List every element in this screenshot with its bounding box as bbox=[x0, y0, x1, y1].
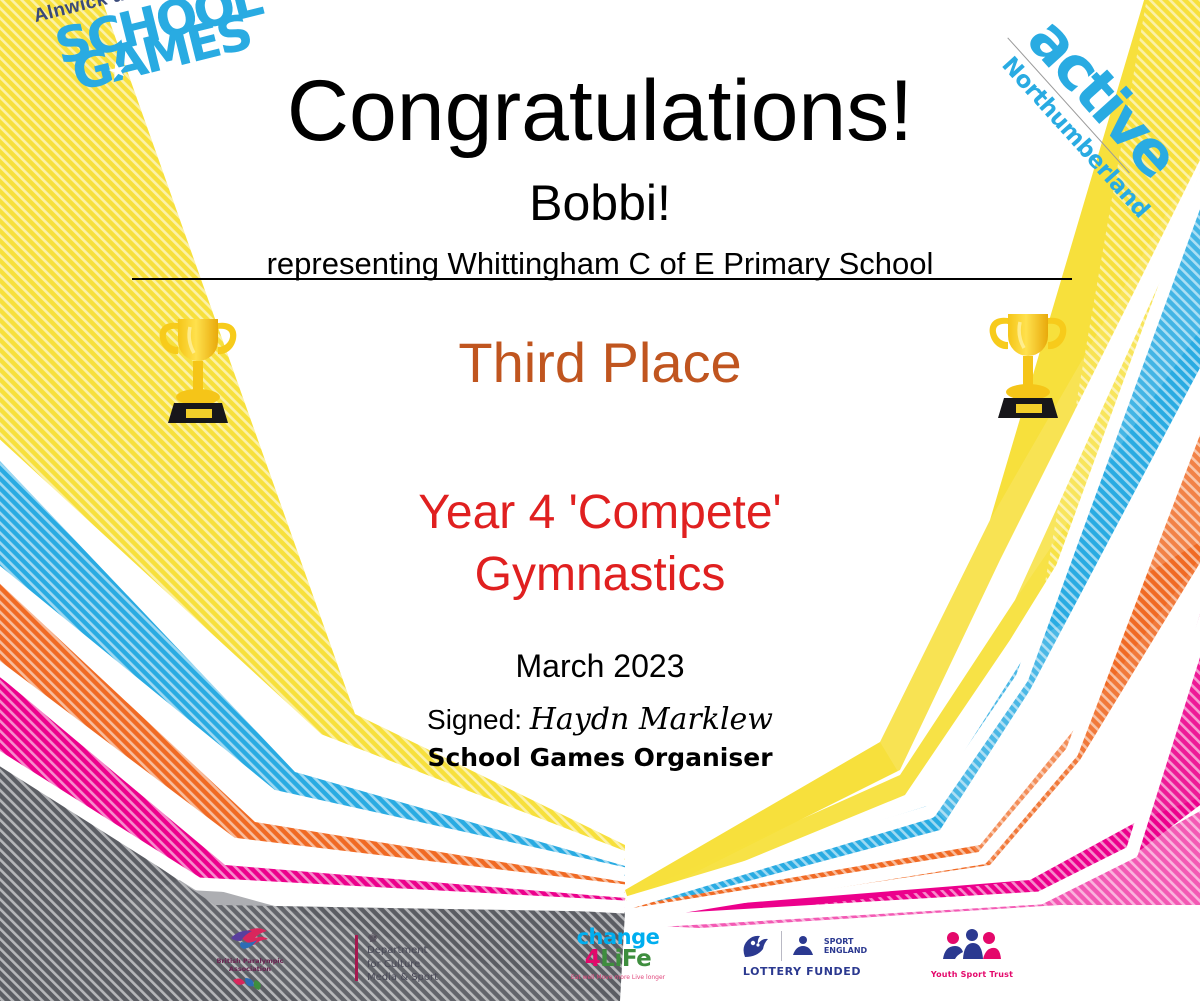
paralympic-flame-icon bbox=[221, 927, 279, 953]
award-date: March 2023 bbox=[0, 650, 1200, 682]
divider-rule bbox=[132, 278, 1072, 280]
footer-logo-strip: British Paralympic Association ♚ Departm… bbox=[0, 923, 1200, 995]
sport-england-mark-icon bbox=[790, 933, 816, 959]
sport-england-text: SPORT ENGLAND bbox=[824, 937, 867, 955]
headline: Congratulations! bbox=[0, 68, 1200, 154]
change4life-word-change: change bbox=[548, 927, 688, 948]
youth-sport-trust-caption: Youth Sport Trust bbox=[912, 970, 1032, 979]
certificate-page: Alnwick and Berwick SCHOOL GAMES ★ activ… bbox=[0, 0, 1200, 1001]
dcms-accent-bar bbox=[355, 935, 358, 981]
dcms-line-1: Department bbox=[367, 944, 505, 958]
dcms-text-block: Department for Culture Media & Sport bbox=[367, 944, 505, 985]
event-title: Year 4 'Compete' Gymnastics bbox=[0, 482, 1200, 607]
lottery-fingers-crossed-icon bbox=[737, 931, 773, 961]
signature-line: Signed: Haydn Marklew bbox=[0, 705, 1200, 735]
logo-change4life: change 4LiFe Eat well Move more Live lon… bbox=[548, 927, 688, 981]
signatory-role: School Games Organiser bbox=[0, 745, 1200, 770]
event-line-2: Gymnastics bbox=[0, 544, 1200, 606]
event-line-1: Year 4 'Compete' bbox=[0, 482, 1200, 544]
logo-youth-sport-trust: Youth Sport Trust bbox=[912, 929, 1032, 979]
sport-england-line-2: ENGLAND bbox=[824, 946, 867, 955]
logo-divider bbox=[781, 931, 782, 961]
logo-sport-england-lottery: SPORT ENGLAND LOTTERY FUNDED bbox=[722, 931, 882, 978]
sport-england-row: SPORT ENGLAND bbox=[722, 931, 882, 961]
recipient-name: Bobbi! bbox=[0, 178, 1200, 228]
dcms-line-3: Media & Sport bbox=[367, 971, 505, 985]
signed-label: Signed: bbox=[427, 704, 522, 735]
royal-crown-icon: ♚ bbox=[367, 931, 505, 944]
youth-sport-trust-figures-icon bbox=[939, 929, 1005, 963]
change4life-tagline: Eat well Move more Live longer bbox=[548, 974, 688, 981]
agitos-icon bbox=[227, 976, 273, 994]
change4life-word-life: LiFe bbox=[600, 946, 651, 972]
signatory-name: Haydn Marklew bbox=[530, 702, 773, 737]
logo-british-paralympic-association: British Paralympic Association bbox=[198, 927, 302, 999]
change4life-numeral: 4 bbox=[585, 946, 601, 972]
placement-text: Third Place bbox=[0, 335, 1200, 391]
dcms-line-2: for Culture bbox=[367, 958, 505, 972]
school-line: representing Whittingham C of E Primary … bbox=[0, 248, 1200, 279]
change4life-word-4life: 4LiFe bbox=[548, 948, 688, 971]
lottery-funded-caption: LOTTERY FUNDED bbox=[722, 965, 882, 978]
bpa-caption: British Paralympic Association bbox=[198, 958, 302, 974]
logo-dcms: ♚ Department for Culture Media & Sport bbox=[355, 931, 505, 985]
sport-england-line-1: SPORT bbox=[824, 937, 867, 946]
